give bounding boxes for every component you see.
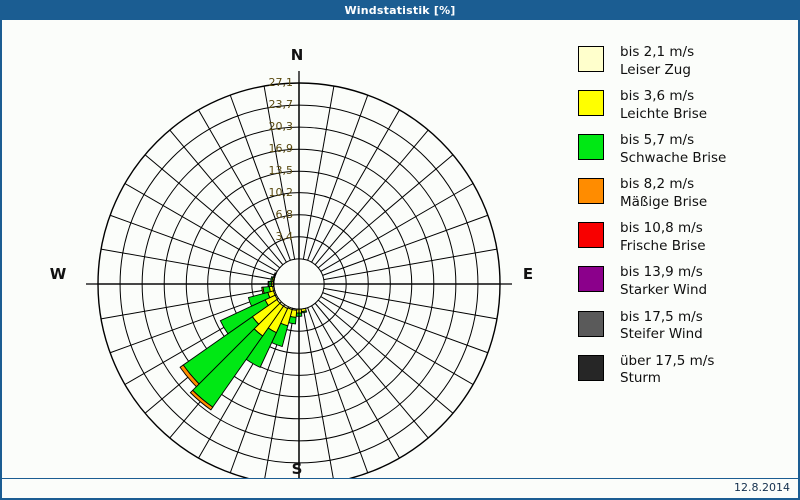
legend-item: über 17,5 m/sSturm: [578, 353, 798, 388]
color-swatch-icon: [578, 46, 604, 72]
chart-canvas: N S W E 3,46,810,213,516,920,323,727,1 b…: [2, 20, 798, 478]
legend-item-text: bis 8,2 m/sMäßige Brise: [620, 176, 707, 211]
radial-tick-label: 27,1: [247, 76, 293, 89]
grid-spoke: [303, 86, 334, 259]
grid-spoke: [323, 293, 488, 353]
grid-spoke: [324, 249, 497, 280]
wind-rose-segment: [271, 277, 273, 282]
legend-item-text: bis 2,1 m/sLeiser Zug: [620, 44, 694, 79]
legend-item-text: bis 17,5 m/sSteifer Wind: [620, 309, 703, 344]
grid-spoke: [308, 95, 368, 260]
compass-label-west: W: [28, 265, 88, 283]
color-swatch-icon: [578, 311, 604, 337]
grid-spoke: [312, 110, 400, 262]
legend-item-text: bis 3,6 m/sLeichte Brise: [620, 88, 707, 123]
radial-tick-label: 6,8: [247, 208, 293, 221]
legend-item-speed: bis 5,7 m/s: [620, 132, 726, 150]
radial-tick-label: 20,3: [247, 120, 293, 133]
legend-item-speed: bis 8,2 m/s: [620, 176, 707, 194]
grid-spoke: [323, 215, 488, 275]
compass-label-east: E: [498, 265, 558, 283]
legend-item: bis 17,5 m/sSteifer Wind: [578, 309, 798, 344]
color-swatch-icon: [578, 90, 604, 116]
wind-statistics-window: Windstatistik [%] N S W E 3,46,810,213,5…: [0, 0, 800, 500]
grid-spoke: [315, 130, 428, 265]
grid-spoke: [315, 303, 428, 438]
legend-item-name: Sturm: [620, 370, 714, 388]
grid-spoke: [321, 297, 473, 385]
legend-item-speed: bis 17,5 m/s: [620, 309, 703, 327]
legend-item-speed: über 17,5 m/s: [620, 353, 714, 371]
grid-spoke: [324, 288, 497, 319]
legend-item-name: Schwache Brise: [620, 150, 726, 168]
legend-item: bis 8,2 m/sMäßige Brise: [578, 176, 798, 211]
legend-item-speed: bis 10,8 m/s: [620, 220, 706, 238]
grid-spoke: [321, 184, 473, 272]
legend-item: bis 13,9 m/sStarker Wind: [578, 264, 798, 299]
color-swatch-icon: [578, 134, 604, 160]
legend-item-text: bis 5,7 m/sSchwache Brise: [620, 132, 726, 167]
wind-rose-segment: [301, 311, 306, 313]
compass-label-north: N: [267, 46, 327, 64]
legend-item: bis 2,1 m/sLeiser Zug: [578, 44, 798, 79]
legend-item-name: Leiser Zug: [620, 62, 694, 80]
legend-item-speed: bis 3,6 m/s: [620, 88, 707, 106]
window-title: Windstatistik [%]: [344, 4, 455, 17]
grid-spoke: [308, 308, 368, 473]
legend-item-name: Starker Wind: [620, 282, 707, 300]
legend-item-name: Leichte Brise: [620, 106, 707, 124]
legend-item-text: bis 10,8 m/sFrische Brise: [620, 220, 706, 255]
grid-spoke: [110, 215, 275, 275]
grid-spoke: [312, 306, 400, 458]
color-swatch-icon: [578, 355, 604, 381]
radial-tick-label: 13,5: [247, 164, 293, 177]
wind-rose-plot: N S W E 3,46,810,213,516,920,323,727,1: [2, 20, 562, 478]
grid-spoke: [318, 300, 453, 413]
polar-axes: [86, 71, 512, 478]
radial-tick-label: 10,2: [247, 186, 293, 199]
legend: bis 2,1 m/sLeiser Zugbis 3,6 m/sLeichte …: [578, 44, 798, 397]
legend-item-name: Frische Brise: [620, 238, 706, 256]
legend-item-name: Mäßige Brise: [620, 194, 707, 212]
legend-item: bis 3,6 m/sLeichte Brise: [578, 88, 798, 123]
radial-tick-label: 23,7: [247, 98, 293, 111]
grid-spoke: [101, 249, 274, 280]
legend-item-text: über 17,5 m/sSturm: [620, 353, 714, 388]
color-swatch-icon: [578, 222, 604, 248]
legend-item: bis 5,7 m/sSchwache Brise: [578, 132, 798, 167]
grid-spoke: [303, 309, 334, 478]
color-swatch-icon: [578, 266, 604, 292]
legend-item-speed: bis 13,9 m/s: [620, 264, 707, 282]
footer-bar: 12.8.2014: [2, 478, 798, 498]
legend-item: bis 10,8 m/sFrische Brise: [578, 220, 798, 255]
legend-item-name: Steifer Wind: [620, 326, 703, 344]
grid-spoke: [318, 155, 453, 268]
legend-item-speed: bis 2,1 m/s: [620, 44, 694, 62]
radial-tick-label: 3,4: [247, 230, 293, 243]
legend-item-text: bis 13,9 m/sStarker Wind: [620, 264, 707, 299]
window-titlebar: Windstatistik [%]: [0, 0, 800, 20]
compass-label-south: S: [267, 460, 327, 478]
color-swatch-icon: [578, 178, 604, 204]
date-label: 12.8.2014: [734, 481, 790, 494]
radial-tick-label: 16,9: [247, 142, 293, 155]
